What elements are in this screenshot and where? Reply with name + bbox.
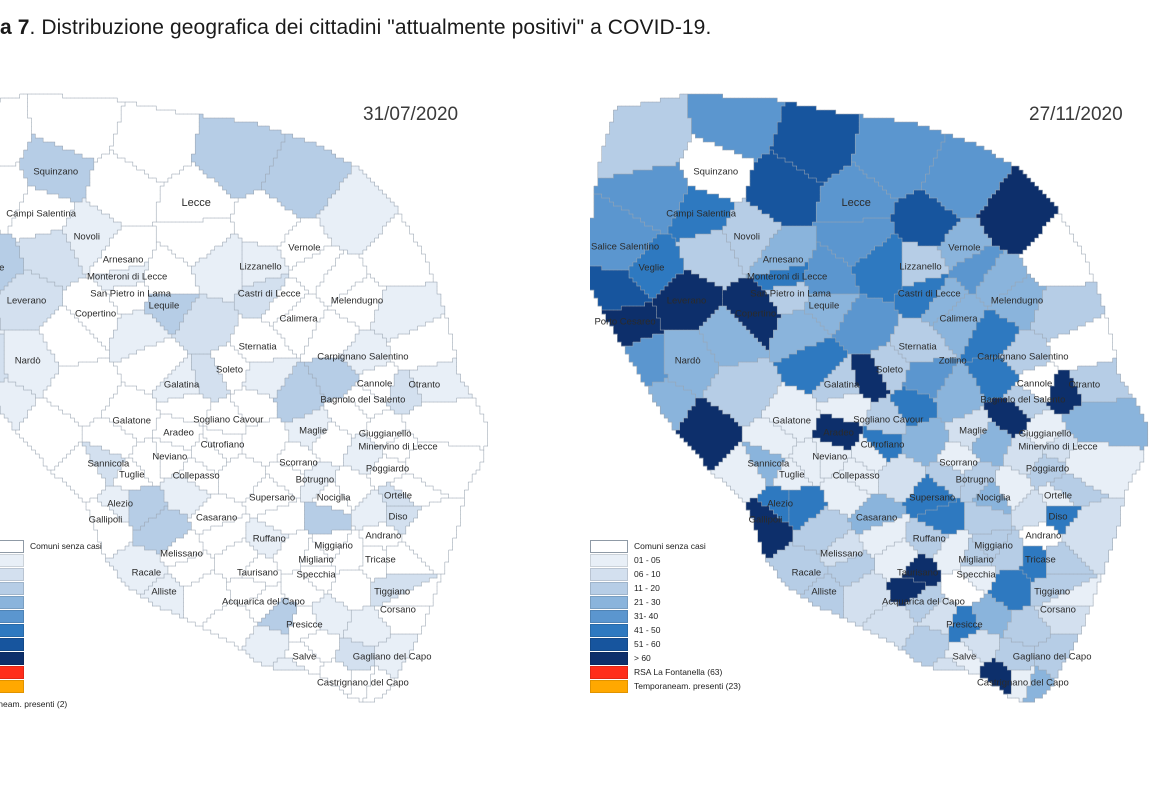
legend-swatch: [590, 610, 628, 623]
page-title-prefix: a 7: [0, 16, 30, 39]
legend-row: RSA La Fontanella (63): [590, 666, 741, 679]
page-title: a 7. Distribuzione geografica dei cittad…: [0, 16, 711, 40]
legend-swatch: [590, 666, 628, 679]
legend-label: 21 - 30: [634, 597, 660, 608]
legend-row: 06 - 10: [590, 568, 741, 581]
legend-swatch: [0, 624, 24, 637]
legend-row: [0, 638, 102, 651]
legend-swatch: [590, 596, 628, 609]
legend-swatch: [0, 638, 24, 651]
legend-row: Comuni senza casi: [590, 540, 741, 553]
legend-swatch: [590, 652, 628, 665]
legend-swatch: [590, 554, 628, 567]
legend-swatch: [590, 680, 628, 693]
legend-row: 11 - 20: [590, 582, 741, 595]
legend-row: 51 - 60: [590, 638, 741, 651]
legend-row: 21 - 30: [590, 596, 741, 609]
legend-left: Comuni senza casioraneam. presenti (2): [0, 540, 102, 709]
legend-row: [0, 610, 102, 623]
legend-label: Temporaneam. presenti (23): [634, 681, 741, 692]
legend-swatch: [0, 582, 24, 595]
legend-label: > 60: [634, 653, 651, 664]
legend-swatch: [0, 568, 24, 581]
legend-row: 41 - 50: [590, 624, 741, 637]
legend-label: 01 - 05: [634, 555, 660, 566]
legend-label: 51 - 60: [634, 639, 660, 650]
legend-row: [0, 666, 102, 679]
legend-note: oraneam. presenti (2): [0, 699, 102, 709]
legend-label: 06 - 10: [634, 569, 660, 580]
legend-row: [0, 652, 102, 665]
legend-swatch: [0, 666, 24, 679]
legend-row: [0, 582, 102, 595]
legend-swatch: [590, 582, 628, 595]
legend-swatch: [590, 624, 628, 637]
legend-label: Comuni senza casi: [30, 541, 102, 552]
legend-swatch: [0, 554, 24, 567]
legend-label: 31- 40: [634, 611, 658, 622]
legend-row: [0, 680, 102, 693]
legend-swatch: [0, 540, 24, 553]
legend-label: Comuni senza casi: [634, 541, 706, 552]
legend-row: [0, 554, 102, 567]
legend-label: RSA La Fontanella (63): [634, 667, 722, 678]
legend-row: [0, 624, 102, 637]
legend-row: > 60: [590, 652, 741, 665]
page-title-rest: . Distribuzione geografica dei cittadini…: [30, 16, 712, 39]
legend-swatch: [590, 638, 628, 651]
legend-row: 01 - 05: [590, 554, 741, 567]
legend-label: 11 - 20: [634, 583, 660, 594]
legend-swatch: [590, 568, 628, 581]
map-date-left: 31/07/2020: [363, 104, 458, 126]
legend-row: [0, 596, 102, 609]
legend-row: Temporaneam. presenti (23): [590, 680, 741, 693]
legend-swatch: [0, 610, 24, 623]
legend-swatch: [0, 596, 24, 609]
legend-swatch: [0, 652, 24, 665]
map-date-right: 27/11/2020: [1029, 104, 1123, 126]
legend-row: [0, 568, 102, 581]
legend-label: 41 - 50: [634, 625, 660, 636]
legend-row: Comuni senza casi: [0, 540, 102, 553]
legend-swatch: [590, 540, 628, 553]
legend-row: 31- 40: [590, 610, 741, 623]
legend-right: Comuni senza casi01 - 0506 - 1011 - 2021…: [590, 540, 741, 694]
legend-swatch: [0, 680, 24, 693]
